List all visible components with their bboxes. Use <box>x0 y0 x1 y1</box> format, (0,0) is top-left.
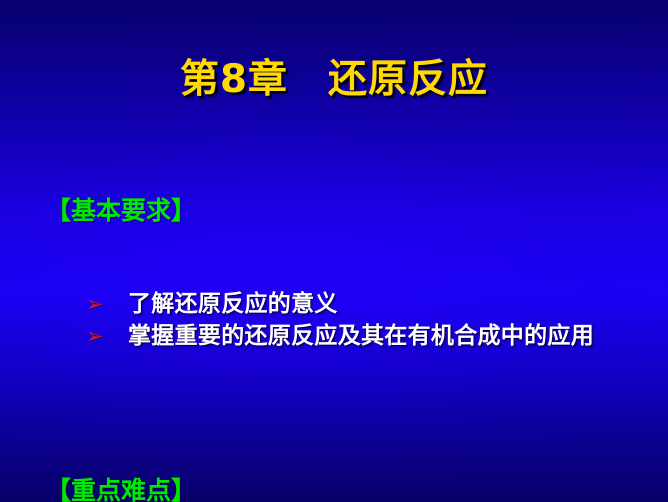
section-heading-basic-requirements: 【基本要求】 <box>46 191 668 227</box>
list-item-label: 掌握重要的还原反应及其在有机合成中的应用 <box>128 321 626 351</box>
arrow-bullet-icon: ➢ <box>86 321 128 351</box>
list-item: ➢ 掌握重要的还原反应及其在有机合成中的应用 <box>86 321 626 351</box>
list-item-label: 了解还原反应的意义 <box>128 289 626 319</box>
page-title: 第8章 还原反应 <box>0 48 668 104</box>
bullet-list-basic-requirements: ➢ 了解还原反应的意义 ➢ 掌握重要的还原反应及其在有机合成中的应用 <box>86 289 626 351</box>
list-item: ➢ 了解还原反应的意义 <box>86 289 626 319</box>
arrow-bullet-icon: ➢ <box>86 289 128 319</box>
section-heading-key-difficulties: 【重点难点】 <box>46 471 668 502</box>
presentation-slide: 第8章 还原反应 【基本要求】 ➢ 了解还原反应的意义 ➢ 掌握重要的还原反应及… <box>0 0 668 502</box>
